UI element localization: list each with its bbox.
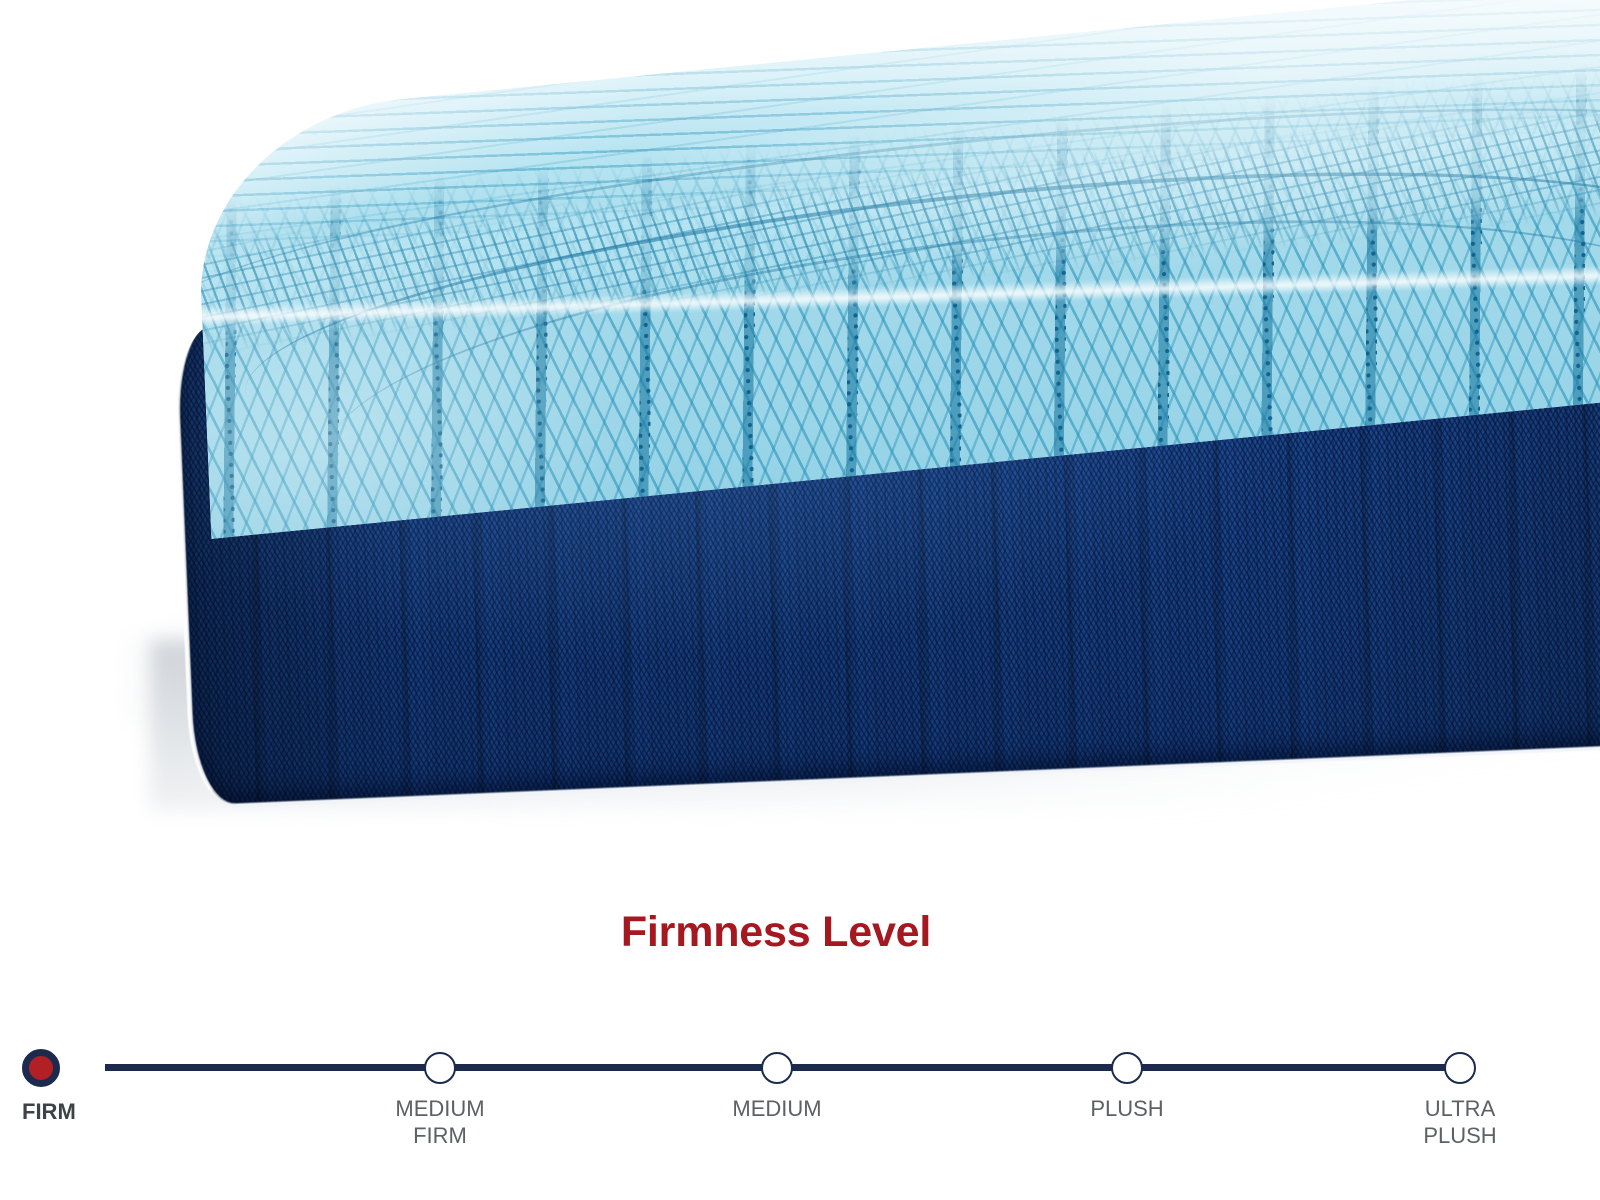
firmness-dot-medium[interactable] (761, 1052, 793, 1084)
firmness-level-title: Firmness Level (0, 908, 1552, 957)
firmness-stop-firm[interactable]: FIRM (20, 1010, 192, 1125)
firmness-stop-ultra-plush[interactable]: ULTRA PLUSH (1375, 1010, 1545, 1149)
firmness-stop-medium-firm[interactable]: MEDIUM FIRM (355, 1010, 525, 1149)
firmness-dot-medium-firm[interactable] (424, 1052, 456, 1084)
page-root: Firmness Level FIRM MEDIUM FIRM MEDIUM P… (0, 0, 1600, 1200)
firmness-dot-firm[interactable] (22, 1049, 60, 1087)
firmness-scale: FIRM MEDIUM FIRM MEDIUM PLUSH ULTRA PLUS… (0, 1010, 1600, 1160)
product-image-mattress (0, 0, 1600, 880)
firmness-level-section: Firmness Level FIRM MEDIUM FIRM MEDIUM P… (0, 880, 1600, 1200)
firmness-label-ultra-plush: ULTRA PLUSH (1375, 1095, 1545, 1149)
mattress-body (166, 59, 1600, 820)
firmness-stop-medium[interactable]: MEDIUM (692, 1010, 862, 1122)
firmness-dot-plush[interactable] (1111, 1052, 1143, 1084)
firmness-label-plush: PLUSH (1042, 1095, 1212, 1122)
firmness-dot-ultra-plush[interactable] (1444, 1052, 1476, 1084)
firmness-label-medium-firm: MEDIUM FIRM (355, 1095, 525, 1149)
firmness-stop-plush[interactable]: PLUSH (1042, 1010, 1212, 1122)
firmness-label-medium: MEDIUM (692, 1095, 862, 1122)
firmness-label-firm: FIRM (22, 1098, 192, 1125)
